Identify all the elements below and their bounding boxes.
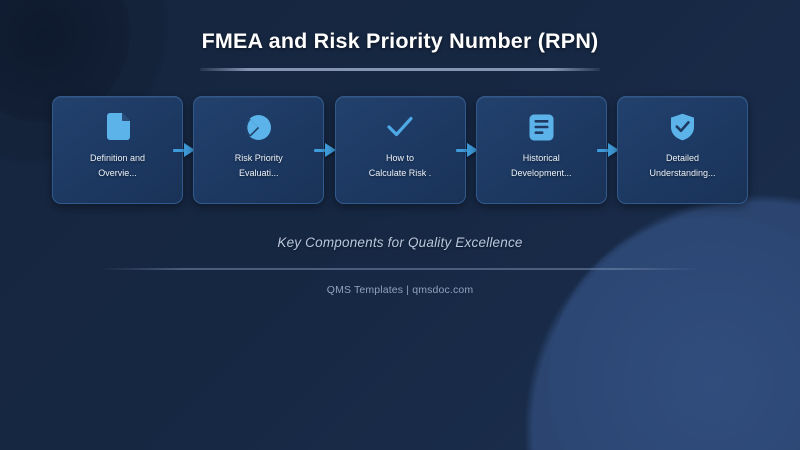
card-label: Risk Priority Evaluati... xyxy=(203,151,315,181)
card-label-line1: Definition and xyxy=(90,153,145,163)
card-how-to-calculate-risk[interactable]: How to Calculate Risk . xyxy=(335,96,466,204)
flow-step-5: Detailed Understanding... xyxy=(617,96,748,204)
card-label-line1: Detailed xyxy=(666,153,699,163)
footer-attribution: QMS Templates | qmsdoc.com xyxy=(0,284,800,296)
card-label-line2: Understanding... xyxy=(627,166,739,181)
card-label-line1: Historical xyxy=(523,153,560,163)
flow-step-3: How to Calculate Risk . xyxy=(335,96,466,204)
card-label-line2: Overvie... xyxy=(62,166,174,181)
list-document-icon xyxy=(526,112,556,142)
decorative-circle-bottom-right xyxy=(548,216,800,450)
page-title: FMEA and Risk Priority Number (RPN) xyxy=(0,29,800,54)
card-label-line1: How to xyxy=(386,153,414,163)
card-label-line2: Calculate Risk . xyxy=(344,166,456,181)
check-icon xyxy=(385,112,415,142)
card-label-line2: Evaluati... xyxy=(203,166,315,181)
card-detailed-understanding[interactable]: Detailed Understanding... xyxy=(617,96,748,204)
flow-step-1: Definition and Overvie... xyxy=(52,96,183,204)
pie-gauge-icon xyxy=(244,112,274,142)
flow-step-2: Risk Priority Evaluati... xyxy=(193,96,324,204)
slide-canvas: FMEA and Risk Priority Number (RPN) Defi… xyxy=(0,0,800,450)
shield-check-icon xyxy=(668,112,698,142)
process-flow: Definition and Overvie... xyxy=(52,96,748,204)
footer-divider xyxy=(100,268,700,270)
card-historical-development[interactable]: Historical Development... xyxy=(476,96,607,204)
card-label: Historical Development... xyxy=(485,151,597,181)
card-label-line1: Risk Priority xyxy=(235,153,283,163)
card-label: How to Calculate Risk . xyxy=(344,151,456,181)
flow-step-4: Historical Development... xyxy=(476,96,607,204)
card-label: Detailed Understanding... xyxy=(627,151,739,181)
card-label: Definition and Overvie... xyxy=(62,151,174,181)
subtitle: Key Components for Quality Excellence xyxy=(0,235,800,250)
card-label-line2: Development... xyxy=(485,166,597,181)
title-divider xyxy=(200,68,600,71)
document-icon xyxy=(103,112,133,142)
card-definition-and-overview[interactable]: Definition and Overvie... xyxy=(52,96,183,204)
card-risk-priority-evaluation[interactable]: Risk Priority Evaluati... xyxy=(193,96,324,204)
